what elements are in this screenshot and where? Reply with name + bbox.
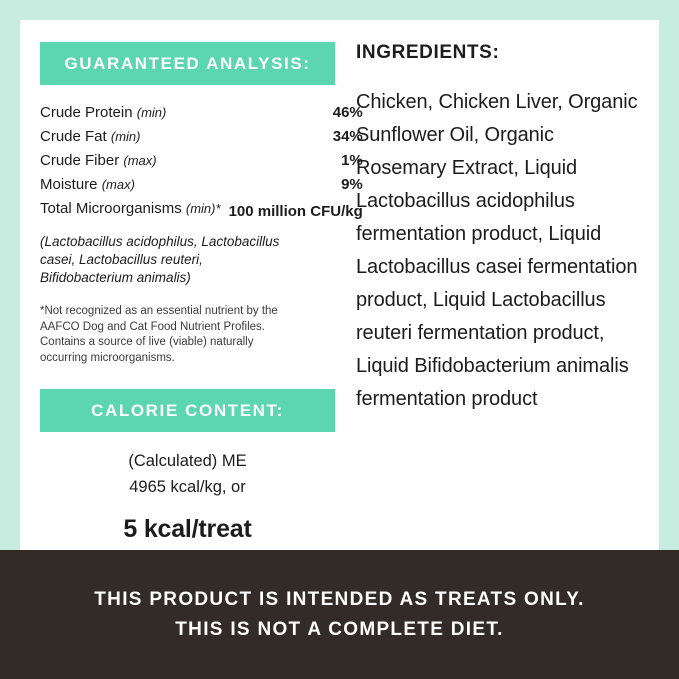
nutrient-basis: (min) (111, 129, 141, 144)
nutrient-name: Moisture (max) (40, 173, 229, 197)
nutrient-name: Crude Fiber (max) (40, 149, 229, 173)
ingredients-heading: INGREDIENTS: (356, 42, 646, 64)
nutrient-name: Crude Protein (min) (40, 101, 229, 125)
nutrient-value: 1% (229, 149, 363, 173)
left-column: GUARANTEED ANALYSIS: Crude Protein (min)… (40, 42, 335, 544)
calorie-per-treat: 5 kcal/treat (40, 515, 335, 544)
nutrient-label: Total Microorganisms (40, 200, 182, 217)
table-row: Crude Fiber (max) 1% (40, 149, 363, 173)
right-column: INGREDIENTS: Chicken, Chicken Liver, Org… (356, 42, 646, 416)
nutrient-value: 34% (229, 125, 363, 149)
table-row: Crude Fat (min) 34% (40, 125, 363, 149)
disclaimer-line-1: THIS PRODUCT IS INTENDED AS TREATS ONLY. (94, 585, 584, 615)
nutrient-label: Moisture (40, 176, 98, 193)
nutrient-value: 100 million CFU/kg (229, 197, 363, 224)
analysis-footnote: *Not recognized as an essential nutrient… (40, 304, 302, 366)
nutrient-basis: (max) (102, 177, 135, 192)
disclaimer-line-2: THIS IS NOT A COMPLETE DIET. (175, 615, 503, 645)
disclaimer-banner: THIS PRODUCT IS INTENDED AS TREATS ONLY.… (0, 550, 679, 679)
calorie-method-line: (Calculated) ME (40, 448, 335, 474)
nutrient-label: Crude Fat (40, 128, 107, 145)
label-content-card: GUARANTEED ANALYSIS: Crude Protein (min)… (20, 20, 659, 550)
guaranteed-analysis-banner: GUARANTEED ANALYSIS: (40, 42, 335, 85)
nutrient-label: Crude Fiber (40, 152, 119, 169)
nutrient-basis: (max) (123, 153, 156, 168)
table-row: Crude Protein (min) 46% (40, 101, 363, 125)
nutrient-name: Total Microorganisms (min)* (40, 197, 229, 224)
calorie-content-banner-label: CALORIE CONTENT: (91, 401, 284, 421)
calorie-content-banner: CALORIE CONTENT: (40, 389, 335, 432)
calorie-density-line: 4965 kcal/kg, or (40, 474, 335, 500)
guaranteed-analysis-banner-label: GUARANTEED ANALYSIS: (64, 54, 310, 74)
ingredients-text: Chicken, Chicken Liver, Organic Sunflowe… (356, 86, 646, 416)
calorie-content-banner-wrap: CALORIE CONTENT: (40, 389, 335, 432)
nutrient-value: 9% (229, 173, 363, 197)
table-row: Total Microorganisms (min)* 100 million … (40, 197, 363, 224)
pet-treat-label-panel: GUARANTEED ANALYSIS: Crude Protein (min)… (0, 0, 679, 679)
guaranteed-analysis-table: Crude Protein (min) 46% Crude Fat (min) … (40, 101, 363, 224)
nutrient-basis: (min) (137, 105, 167, 120)
nutrient-label: Crude Protein (40, 104, 133, 121)
calorie-content-body: (Calculated) ME 4965 kcal/kg, or 5 kcal/… (40, 448, 335, 544)
organism-list: (Lactobacillus acidophilus, Lactobacillu… (40, 233, 285, 287)
table-row: Moisture (max) 9% (40, 173, 363, 197)
nutrient-basis: (min)* (186, 201, 221, 216)
nutrient-name: Crude Fat (min) (40, 125, 229, 149)
nutrient-value: 46% (229, 101, 363, 125)
